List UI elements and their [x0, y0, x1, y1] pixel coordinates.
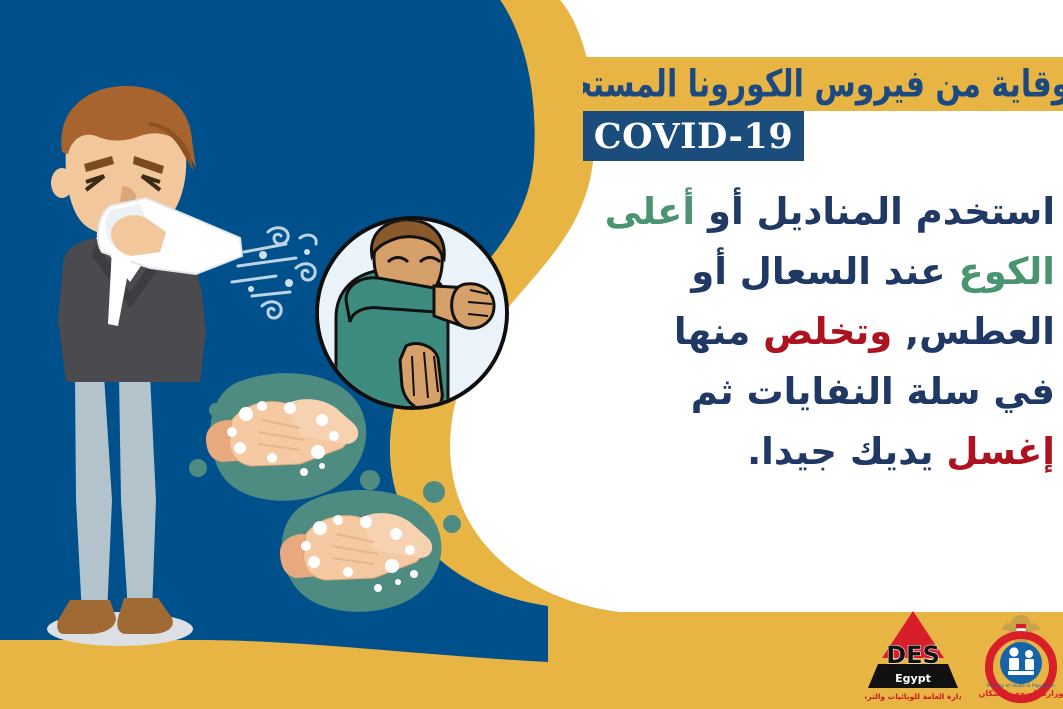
ministry-inner-disc	[1000, 642, 1042, 684]
message-line-1: استخدم المناديل أو أعلى	[585, 182, 1055, 242]
title-banner: الوقاية من فيروس الكورونا المستجد	[583, 57, 1063, 111]
ministry-arabic-caption: وزارة الصحة والسكان	[979, 689, 1063, 698]
poster-root: الوقاية من فيروس الكورونا المستجد COVID-…	[0, 0, 1063, 709]
covid-label-box: COVID-19	[583, 111, 804, 161]
des-logo-graphic: DES Egypt الإدارة العامة للوبائيات والتر…	[865, 608, 961, 703]
message-segment: منها	[674, 310, 763, 353]
ministry-logo: Ministry of Health & Population وزارة ال…	[979, 611, 1063, 703]
des-country: Egypt	[895, 672, 931, 685]
ministry-logo-graphic: Ministry of Health & Population وزارة ال…	[979, 611, 1063, 703]
des-arabic-caption: الإدارة العامة للوبائيات والترصد	[865, 692, 961, 701]
message-segment: يديك جيدا.	[747, 430, 946, 473]
message-segment: أعلى	[605, 190, 696, 233]
des-acronym: DES	[886, 641, 940, 669]
message-segment: إغسل	[946, 430, 1055, 473]
message-segment: في سلة النفايات ثم	[691, 370, 1055, 413]
covid-label-text: COVID-19	[594, 116, 794, 157]
text-column: الوقاية من فيروس الكورونا المستجد COVID-…	[565, 0, 1063, 709]
title-banner-text: الوقاية من فيروس الكورونا المستجد	[583, 62, 1063, 106]
message-segment: وتخلص	[763, 310, 892, 353]
des-logo: DES Egypt الإدارة العامة للوبائيات والتر…	[865, 608, 961, 703]
message-segment: عند السعال أو	[691, 250, 958, 293]
message-segment: استخدم المناديل أو	[695, 190, 1055, 233]
message-line-3: العطس, وتخلص منها	[585, 302, 1055, 362]
message-segment: العطس,	[892, 310, 1055, 353]
logo-row: DES Egypt الإدارة العامة للوبائيات والتر…	[865, 605, 1063, 703]
main-message: استخدم المناديل أو أعلى الكوع عند السعال…	[585, 182, 1055, 482]
message-line-5: إغسل يديك جيدا.	[585, 422, 1055, 482]
message-line-4: في سلة النفايات ثم	[585, 362, 1055, 422]
message-segment: الكوع	[958, 250, 1055, 293]
message-line-2: الكوع عند السعال أو	[585, 242, 1055, 302]
